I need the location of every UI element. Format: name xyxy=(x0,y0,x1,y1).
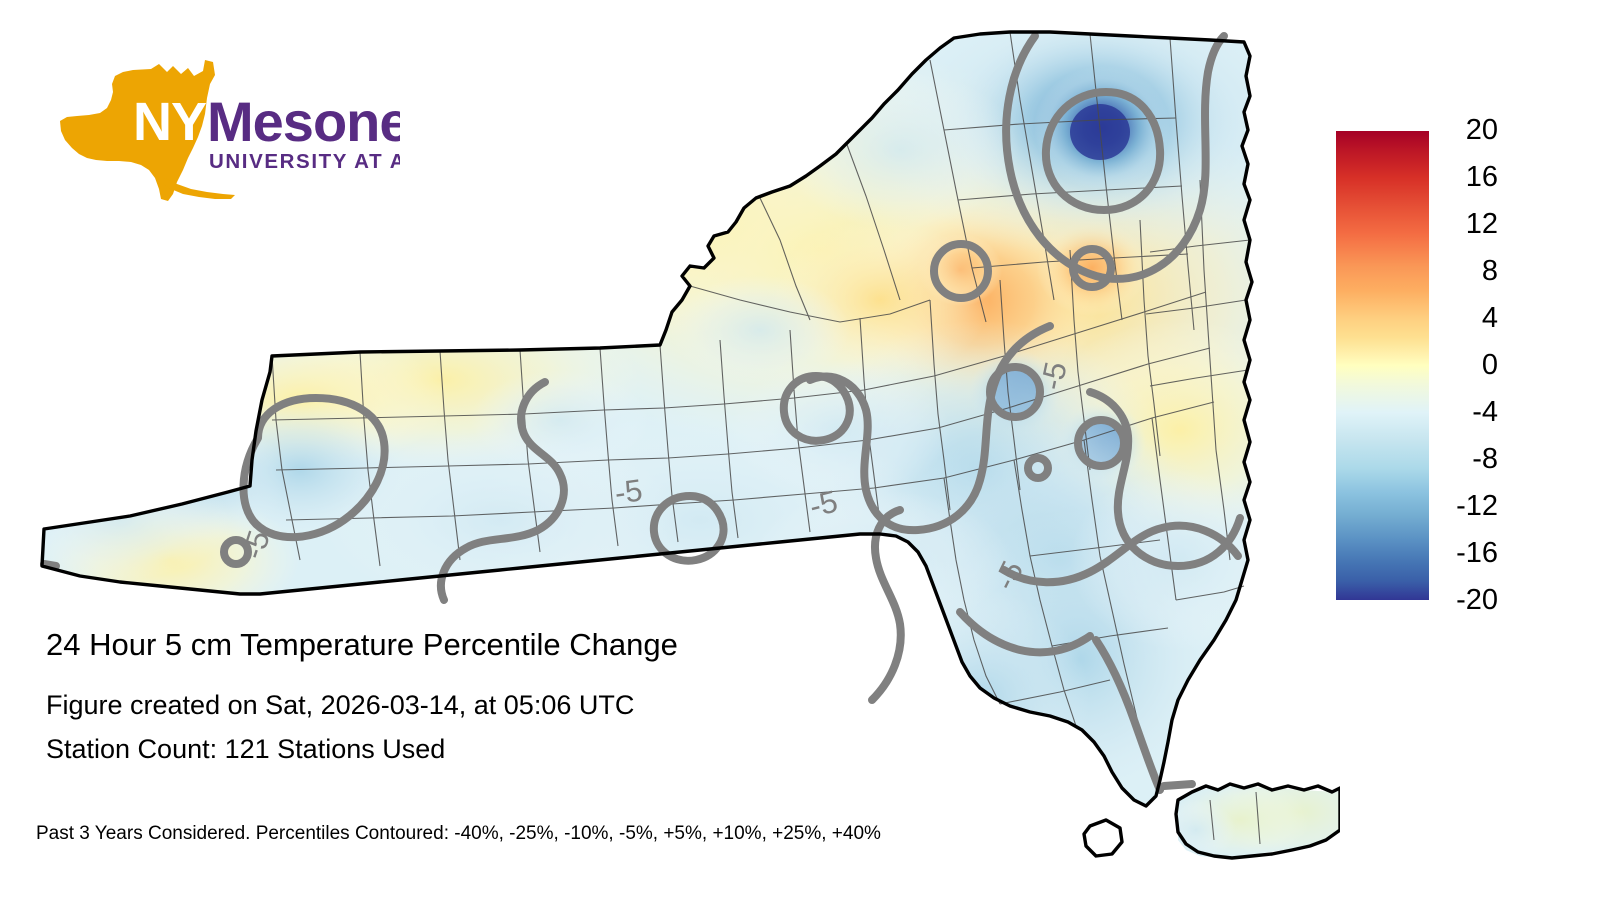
station-count-text: Station Count: 121 Stations Used xyxy=(46,727,1146,771)
colorbar: 20 16 12 8 4 0 -4 -8 -12 -16 -20 xyxy=(1336,131,1536,601)
colorbar-tick-0: 0 xyxy=(1436,351,1498,380)
colorbar-tick-n4: -4 xyxy=(1436,398,1498,427)
contour-long-island-fragment xyxy=(1164,784,1192,786)
figure-created-text: Figure created on Sat, 2026-03-14, at 05… xyxy=(46,683,1146,727)
figure-canvas: NYS Mesonet UNIVERSITY AT ALBANY xyxy=(0,0,1600,900)
colorbar-tick-n20: -20 xyxy=(1436,586,1498,615)
interpolated-field-long-island xyxy=(1150,762,1340,880)
colorbar-tick-16: 16 xyxy=(1436,163,1498,192)
colorbar-tick-labels: 20 16 12 8 4 0 -4 -8 -12 -16 -20 xyxy=(1436,131,1536,600)
caption-block: 24 Hour 5 cm Temperature Percentile Chan… xyxy=(46,625,1146,771)
colorbar-tick-12: 12 xyxy=(1436,210,1498,239)
footnote-text: Past 3 Years Considered. Percentiles Con… xyxy=(36,822,881,846)
page-title: 24 Hour 5 cm Temperature Percentile Chan… xyxy=(46,625,1146,665)
colorbar-tick-n12: -12 xyxy=(1436,492,1498,521)
colorbar-tick-20: 20 xyxy=(1436,116,1498,145)
contour-label-central-west: -5 xyxy=(612,472,644,510)
colorbar-tick-n16: -16 xyxy=(1436,539,1498,568)
colorbar-tick-8: 8 xyxy=(1436,257,1498,286)
colorbar-tick-4: 4 xyxy=(1436,304,1498,333)
colorbar-tick-n8: -8 xyxy=(1436,445,1498,474)
staten-island-outline xyxy=(1084,820,1122,856)
colorbar-gradient xyxy=(1336,131,1429,600)
